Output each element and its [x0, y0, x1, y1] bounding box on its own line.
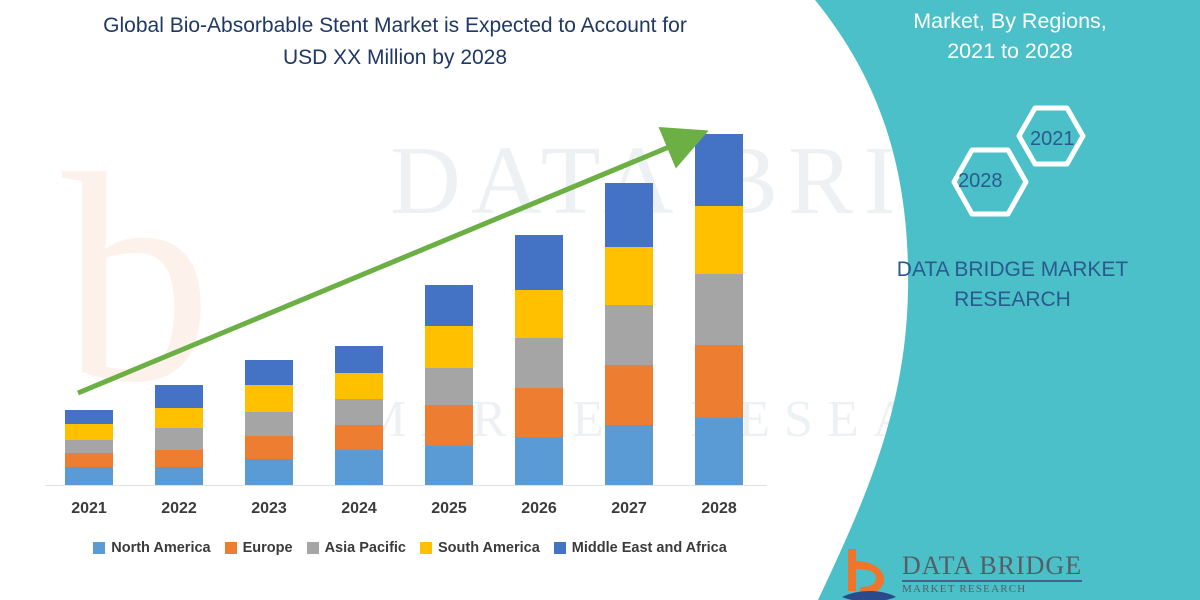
- data-bridge-logo: DATA BRIDGE MARKET RESEARCH: [840, 545, 1140, 600]
- panel-title: Market, By Regions, 2021 to 2028: [820, 6, 1200, 66]
- legend-label: Asia Pacific: [325, 540, 406, 556]
- bar-segment: [425, 446, 473, 485]
- legend-swatch-icon: [554, 542, 566, 554]
- bar-segment: [605, 183, 653, 247]
- bar-segment: [245, 436, 293, 459]
- panel-brand-text: DATA BRIDGE MARKET RESEARCH: [830, 255, 1195, 315]
- bar-segment: [245, 385, 293, 412]
- infographic-root: b DATA BRIDGE MARKET RESEARCH 2021202220…: [0, 0, 1200, 600]
- bar-segment: [245, 459, 293, 485]
- bar-segment: [155, 450, 203, 467]
- bar-segment: [695, 274, 743, 345]
- legend-swatch-icon: [307, 542, 319, 554]
- legend-item-asia-pacific[interactable]: Asia Pacific: [307, 540, 406, 556]
- bar-2022: [155, 385, 203, 485]
- logo-tagline: MARKET RESEARCH: [902, 583, 1026, 595]
- page-title: Global Bio-Absorbable Stent Market is Ex…: [30, 10, 760, 74]
- bar-segment: [335, 425, 383, 450]
- x-axis-label-2021: 2021: [44, 500, 134, 518]
- legend-item-north-america[interactable]: North America: [93, 540, 210, 556]
- bar-segment: [695, 345, 743, 418]
- bar-segment: [335, 373, 383, 399]
- x-axis-label-2028: 2028: [674, 500, 764, 518]
- bar-segment: [605, 425, 653, 485]
- bar-segment: [695, 134, 743, 206]
- x-axis-label-2023: 2023: [224, 500, 314, 518]
- bar-segment: [65, 467, 113, 485]
- legend-item-middle-east-and-africa[interactable]: Middle East and Africa: [554, 540, 727, 556]
- chart-legend: North AmericaEuropeAsia PacificSouth Ame…: [45, 540, 775, 556]
- bar-segment: [245, 360, 293, 385]
- legend-label: North America: [111, 540, 210, 556]
- legend-swatch-icon: [225, 542, 237, 554]
- legend-swatch-icon: [93, 542, 105, 554]
- bar-segment: [515, 388, 563, 437]
- bar-segment: [425, 368, 473, 405]
- logo-divider: [902, 580, 1082, 582]
- bar-2021: [65, 410, 113, 485]
- bar-2024: [335, 346, 383, 485]
- bar-2023: [245, 360, 293, 485]
- x-axis-label-2025: 2025: [404, 500, 494, 518]
- bar-segment: [605, 365, 653, 425]
- logo-name: DATA BRIDGE: [902, 551, 1082, 581]
- bar-2027: [605, 183, 653, 485]
- bar-2028: [695, 134, 743, 485]
- bar-segment: [695, 418, 743, 485]
- bar-segment: [515, 338, 563, 388]
- bar-segment: [65, 453, 113, 467]
- bar-segment: [605, 247, 653, 305]
- bar-2025: [425, 285, 473, 485]
- hexagon-label-2028: 2028: [958, 170, 1003, 193]
- bar-segment: [425, 405, 473, 446]
- legend-label: Middle East and Africa: [572, 540, 727, 556]
- bar-segment: [695, 206, 743, 274]
- x-axis-label-2022: 2022: [134, 500, 224, 518]
- bar-segment: [335, 399, 383, 425]
- bar-segment: [515, 290, 563, 338]
- bar-segment: [425, 285, 473, 326]
- bar-segment: [605, 305, 653, 365]
- bar-segment: [155, 408, 203, 428]
- x-axis-label-2026: 2026: [494, 500, 584, 518]
- bar-segment: [65, 424, 113, 440]
- bar-segment: [515, 437, 563, 485]
- x-axis-label-2024: 2024: [314, 500, 404, 518]
- bar-segment: [425, 326, 473, 368]
- bar-segment: [155, 385, 203, 408]
- stacked-bar-chart: 20212022202320242025202620272028 North A…: [0, 0, 790, 600]
- bar-segment: [155, 428, 203, 450]
- x-axis-label-2027: 2027: [584, 500, 674, 518]
- legend-swatch-icon: [420, 542, 432, 554]
- bar-2026: [515, 235, 563, 485]
- logo-mark-icon: [840, 545, 898, 600]
- hexagon-badges: 2028 2021: [920, 100, 1110, 220]
- bar-segment: [65, 440, 113, 453]
- bar-segment: [335, 346, 383, 373]
- bar-segment: [155, 467, 203, 485]
- bar-segment: [515, 235, 563, 290]
- bar-segment: [335, 450, 383, 485]
- legend-item-south-america[interactable]: South America: [420, 540, 540, 556]
- bar-segment: [65, 410, 113, 424]
- legend-label: South America: [438, 540, 540, 556]
- bar-segment: [245, 412, 293, 436]
- legend-label: Europe: [243, 540, 293, 556]
- legend-item-europe[interactable]: Europe: [225, 540, 293, 556]
- x-axis-line: [45, 485, 767, 486]
- hexagon-label-2021: 2021: [1030, 128, 1075, 151]
